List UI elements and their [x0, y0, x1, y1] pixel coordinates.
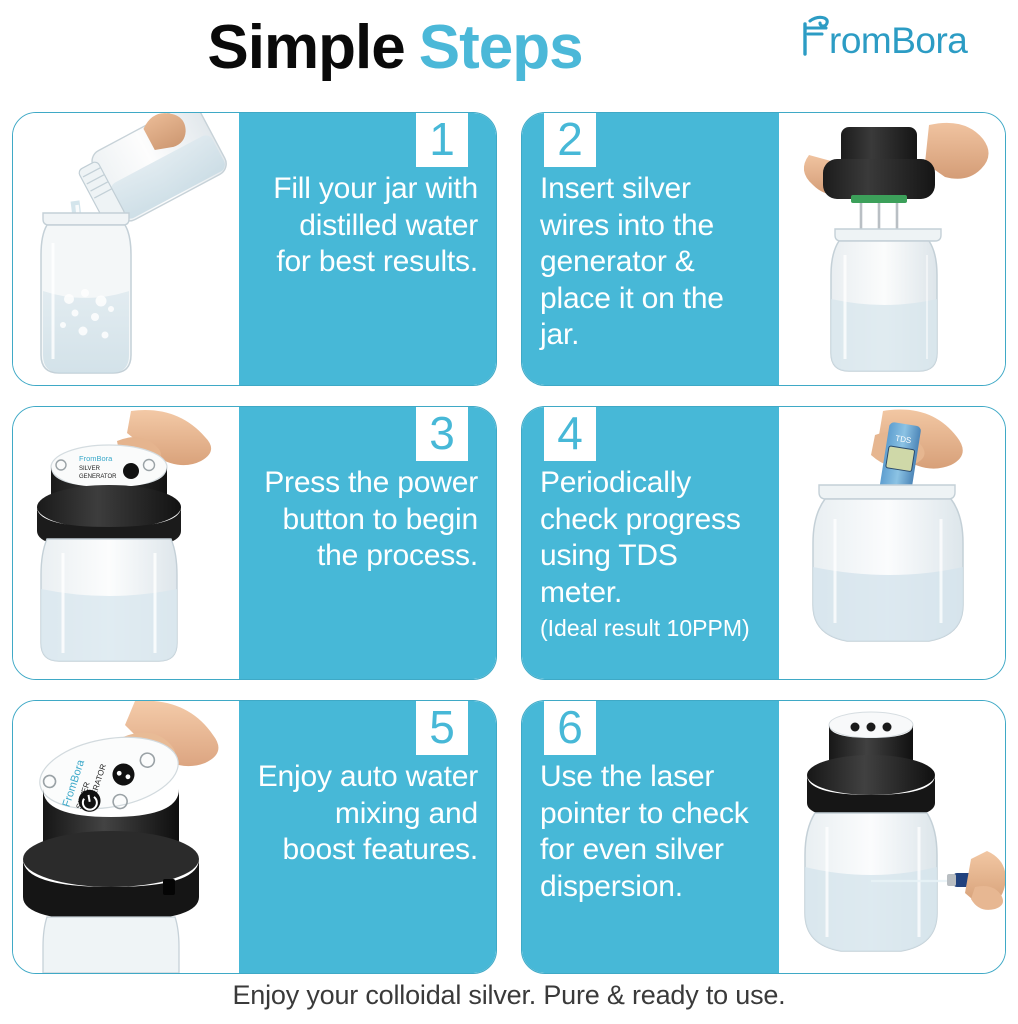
step-text-pane-3: 3 Press the power button to begin the pr… — [239, 407, 496, 679]
power-button-icon — [123, 463, 139, 479]
laser-pointer-aimed-at-jar-photo — [779, 701, 1005, 973]
tds-meter-dipped-in-jar-photo: TDS — [779, 407, 1005, 679]
hand-placing-generator-with-silver-wires-on-jar-photo — [779, 113, 1005, 385]
step-description-5: Enjoy auto water mixing and boost featur… — [257, 759, 478, 869]
step-description-4: Periodically check progress using TDS me… — [540, 465, 761, 611]
step-subnote-4: (Ideal result 10PPM) — [540, 615, 750, 643]
pouring-distilled-water-into-jar-photo — [13, 113, 239, 385]
step-card-5: FromBora SILVER GENERATOR — [12, 700, 497, 974]
step-number-badge-6: 6 — [544, 700, 596, 755]
step-number-badge-3: 3 — [416, 406, 468, 461]
title-word-steps: Steps — [419, 13, 583, 82]
title-word-simple: Simple — [207, 13, 404, 82]
step-description-1: Fill your jar with distilled water for b… — [257, 171, 478, 281]
logo-wordmark: romBora — [829, 20, 968, 58]
step-text-pane-1: 1 Fill your jar with distilled water for… — [239, 113, 496, 385]
step-card-4: TDS 4 — [521, 406, 1006, 680]
finger-pressing-power-button-on-generator-photo: FromBora SILVER GENERATOR — [13, 407, 239, 679]
step-card-1: 1 Fill your jar with distilled water for… — [12, 112, 497, 386]
wind-swirl-icon — [810, 17, 827, 26]
device-silver-label: SILVER — [79, 466, 101, 472]
step-number-3: 3 — [429, 410, 455, 456]
step-number-1: 1 — [429, 116, 455, 162]
brand-logo: romBora — [796, 12, 1008, 58]
step-number-badge-4: 4 — [544, 406, 596, 461]
step-number-badge-5: 5 — [416, 700, 468, 755]
step-number-badge-1: 1 — [416, 112, 468, 167]
step-number-badge-2: 2 — [544, 112, 596, 167]
step-text-pane-4: 4 Periodically check progress using TDS … — [522, 407, 779, 679]
step-number-4: 4 — [557, 410, 583, 456]
frombora-logo-svg: romBora — [796, 12, 1008, 58]
device-generator-label: GENERATOR — [79, 474, 117, 480]
header: SimpleSteps romBora — [0, 0, 1018, 100]
step-text-pane-2: 2 Insert silver wires into the generator… — [522, 113, 779, 385]
page-title: SimpleSteps — [0, 8, 790, 88]
finger-pressing-mixing-boost-button-closeup-photo: FromBora SILVER GENERATOR — [13, 701, 239, 973]
step-number-6: 6 — [557, 704, 583, 750]
step-card-6: 6 Use the laser pointer to check for eve… — [521, 700, 1006, 974]
step-description-3: Press the power button to begin the proc… — [257, 465, 478, 575]
infographic-page: SimpleSteps romBora — [0, 0, 1018, 1024]
step-description-2: Insert silver wires into the generator &… — [540, 171, 761, 354]
step-number-2: 2 — [557, 116, 583, 162]
step-card-2: 2 Insert silver wires into the generator… — [521, 112, 1006, 386]
footer-tagline: Enjoy your colloidal silver. Pure & read… — [0, 980, 1018, 1011]
step-card-3: FromBora SILVER GENERATOR — [12, 406, 497, 680]
step-text-pane-6: 6 Use the laser pointer to check for eve… — [522, 701, 779, 973]
step-number-5: 5 — [429, 704, 455, 750]
step-text-pane-5: 5 Enjoy auto water mixing and boost feat… — [239, 701, 496, 973]
device-brand-label: FromBora — [79, 454, 113, 463]
steps-grid: 1 Fill your jar with distilled water for… — [12, 112, 1006, 974]
step-description-6: Use the laser pointer to check for even … — [540, 759, 761, 905]
